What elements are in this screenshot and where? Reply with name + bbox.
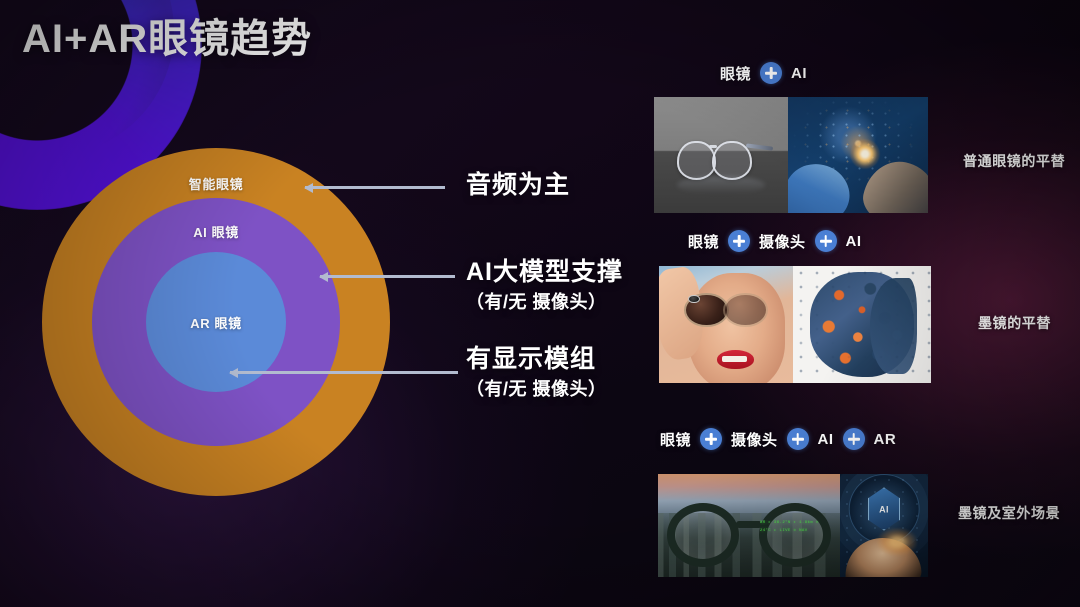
sunglasses-woman-photo xyxy=(659,266,793,383)
group-2-term-glasses: 眼镜 xyxy=(688,231,719,252)
group-2-photo-row xyxy=(659,266,931,383)
eyeglasses-frame-shape xyxy=(677,141,765,176)
group-2-formula-wrap: 眼镜 摄像头 AI xyxy=(688,230,862,252)
ar-hud-overlay-text: AR ▸ 36.2°N ▸ 1.8km ◇ 24°C ▸ LIVE ◇ NAV xyxy=(760,520,822,543)
group-1-term-ai: AI xyxy=(791,65,807,82)
group-3-term-ar: AR xyxy=(874,431,897,448)
plus-icon xyxy=(787,428,809,450)
sunglasses-shape xyxy=(684,293,772,323)
ring-label-ar-glasses: AR 眼镜 xyxy=(190,313,241,332)
group-3-caption: 墨镜及室外场景 xyxy=(958,503,1060,523)
group-2-caption: 墨镜的平替 xyxy=(978,313,1051,333)
concentric-circles-diagram: 智能眼镜 AI 眼镜 AR 眼镜 xyxy=(42,148,390,496)
group-3-formula-wrap: 眼镜 摄像头 AI AR xyxy=(660,428,896,450)
annotation-arrow-1 xyxy=(305,186,445,189)
ai-head-collage-photo xyxy=(793,266,931,383)
annotation-ai-model-support: AI大模型支撑 （有/无 摄像头） xyxy=(466,258,623,314)
plus-icon xyxy=(728,230,750,252)
temple-arm-shape xyxy=(746,143,773,150)
annotation-display-module: 有显示模组 （有/无 摄像头） xyxy=(466,345,607,401)
left-rim-shape xyxy=(667,503,739,567)
annotation-arrow-3 xyxy=(230,371,458,374)
group-1-formula-wrap: 眼镜 AI xyxy=(720,62,807,84)
plus-icon xyxy=(815,230,837,252)
annotation-2-line1: AI大模型支撑 xyxy=(466,258,623,288)
group-3-photo-row: AR ▸ 36.2°N ▸ 1.8km ◇ 24°C ▸ LIVE ◇ NAV … xyxy=(658,474,928,577)
ai-hexagon-hand-photo: AI xyxy=(840,474,928,577)
group-2-term-ai: AI xyxy=(846,233,862,250)
page-title: AI+AR眼镜趋势 xyxy=(22,16,312,62)
group-2-formula: 眼镜 摄像头 AI xyxy=(688,230,862,252)
group-3-formula: 眼镜 摄像头 AI AR xyxy=(660,428,896,450)
annotation-3-line2: （有/无 摄像头） xyxy=(466,377,607,401)
group-1-term-glasses: 眼镜 xyxy=(720,63,751,84)
plus-icon xyxy=(760,62,782,84)
clear-eyeglasses-photo xyxy=(654,97,788,213)
teeth-shape xyxy=(722,356,747,362)
ai-hexagon-label: AI xyxy=(879,504,889,514)
palm-glow xyxy=(877,528,917,556)
ar-pov-city-photo: AR ▸ 36.2°N ▸ 1.8km ◇ 24°C ▸ LIVE ◇ NAV xyxy=(658,474,840,577)
light-spark xyxy=(850,139,880,169)
plus-icon xyxy=(700,428,722,450)
group-1-formula: 眼镜 AI xyxy=(720,62,807,84)
annotation-3-line1: 有显示模组 xyxy=(466,345,607,375)
group-1-photo-row xyxy=(654,97,928,213)
annotation-audio-first: 音频为主 xyxy=(466,171,570,201)
slide-canvas: AI+AR眼镜趋势 智能眼镜 AI 眼镜 AR 眼镜 音频为主 AI大模型支撑 … xyxy=(0,0,1080,607)
group-3-term-ai: AI xyxy=(818,431,834,448)
group-3-term-camera: 摄像头 xyxy=(731,429,778,450)
right-dark-lens xyxy=(723,293,768,327)
bridge-bar-shape xyxy=(736,521,762,528)
ai-tech-hand-photo xyxy=(788,97,928,213)
annotation-arrow-2 xyxy=(320,275,455,278)
annotation-2-line2: （有/无 摄像头） xyxy=(466,290,623,314)
camera-lens-icon xyxy=(688,295,700,304)
group-3-term-glasses: 眼镜 xyxy=(660,429,691,450)
group-2-term-camera: 摄像头 xyxy=(759,231,806,252)
group-1-caption: 普通眼镜的平替 xyxy=(963,151,1065,171)
reflection-shape xyxy=(677,176,765,195)
annotation-1-line1: 音频为主 xyxy=(466,171,570,201)
plus-icon xyxy=(843,428,865,450)
speckle-overlay xyxy=(793,266,931,383)
bridge-shape xyxy=(709,145,716,148)
